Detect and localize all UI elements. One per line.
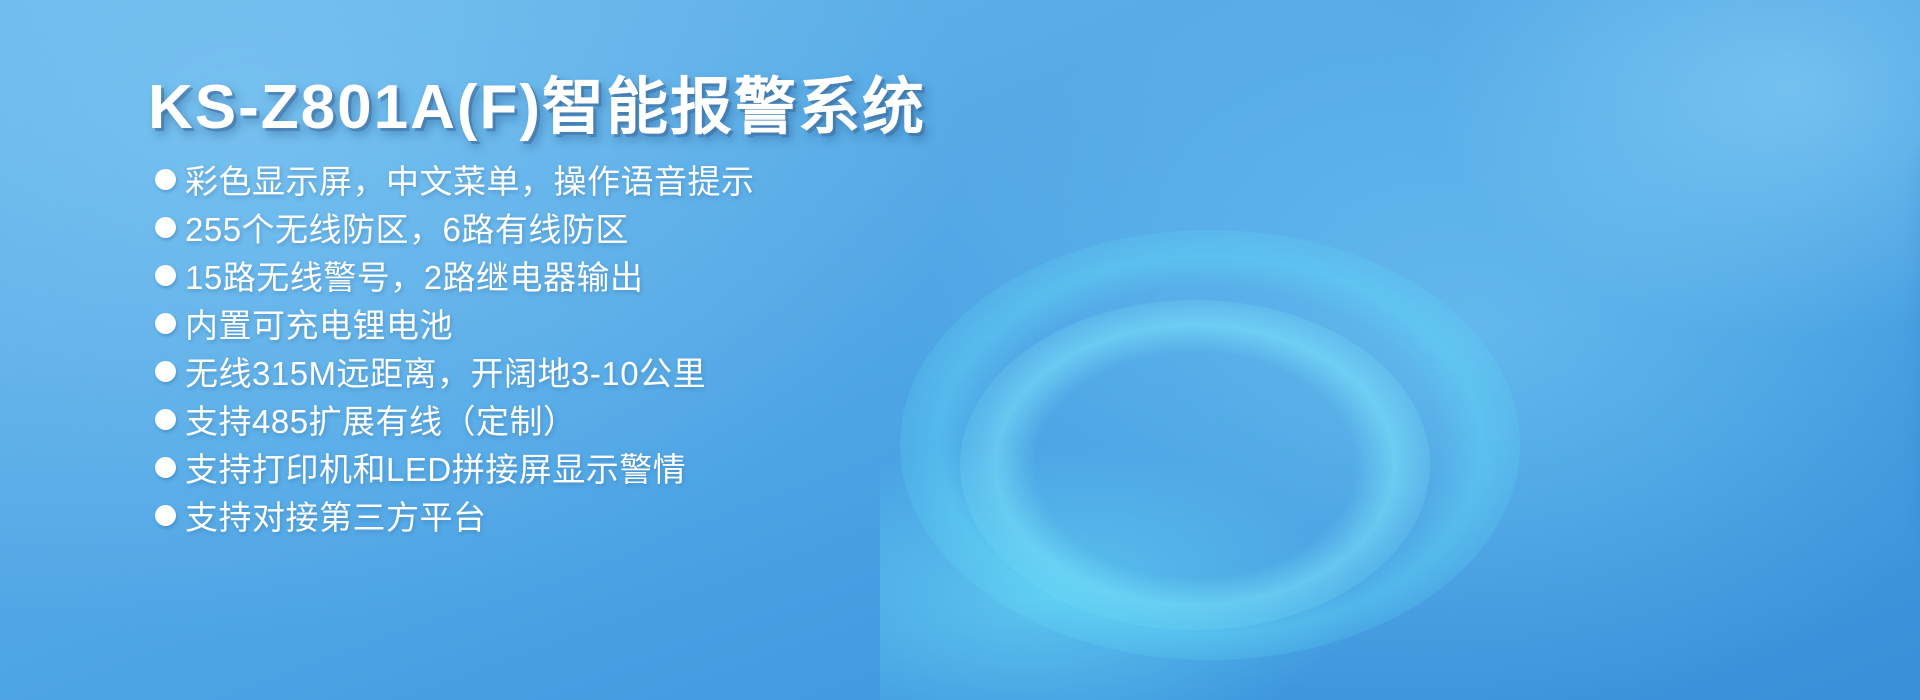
bullet-icon: [155, 361, 176, 382]
feature-label: 15路无线警号，2路继电器输出: [185, 251, 644, 299]
feature-label: 支持对接第三方平台: [185, 491, 487, 539]
feature-label: 无线315M远距离，开阔地3-10公里: [185, 347, 706, 395]
list-item: 255个无线防区，6路有线防区: [155, 203, 955, 251]
list-item: 支持打印机和LED拼接屏显示警情: [155, 443, 955, 491]
product-banner: KS-Z801A(F)智能报警系统 彩色显示屏，中文菜单，操作语音提示 255个…: [0, 0, 1920, 700]
list-item: 支持对接第三方平台: [155, 491, 955, 539]
bullet-icon: [155, 409, 176, 430]
feature-label: 支持485扩展有线（定制）: [185, 395, 577, 443]
feature-label: 支持打印机和LED拼接屏显示警情: [185, 443, 686, 491]
alarm-panel-device: ▼ ▮ 22:27 04-01-01 星期五 电源: [940, 0, 1920, 700]
bullet-icon: [155, 217, 176, 238]
banner-content: KS-Z801A(F)智能报警系统 彩色显示屏，中文菜单，操作语音提示 255个…: [0, 0, 980, 700]
bullet-icon: [155, 505, 176, 526]
feature-label: 255个无线防区，6路有线防区: [185, 203, 629, 251]
bullet-icon: [155, 265, 176, 286]
page-title: KS-Z801A(F)智能报警系统: [148, 56, 926, 146]
feature-list: 彩色显示屏，中文菜单，操作语音提示 255个无线防区，6路有线防区 15路无线警…: [155, 155, 955, 539]
list-item: 内置可充电锂电池: [155, 299, 955, 347]
bullet-icon: [155, 169, 176, 190]
bullet-icon: [155, 457, 176, 478]
list-item: 支持485扩展有线（定制）: [155, 395, 955, 443]
list-item: 无线315M远距离，开阔地3-10公里: [155, 347, 955, 395]
feature-label: 内置可充电锂电池: [185, 299, 453, 347]
list-item: 15路无线警号，2路继电器输出: [155, 251, 955, 299]
feature-label: 彩色显示屏，中文菜单，操作语音提示: [185, 155, 755, 203]
list-item: 彩色显示屏，中文菜单，操作语音提示: [155, 155, 955, 203]
bullet-icon: [155, 313, 176, 334]
